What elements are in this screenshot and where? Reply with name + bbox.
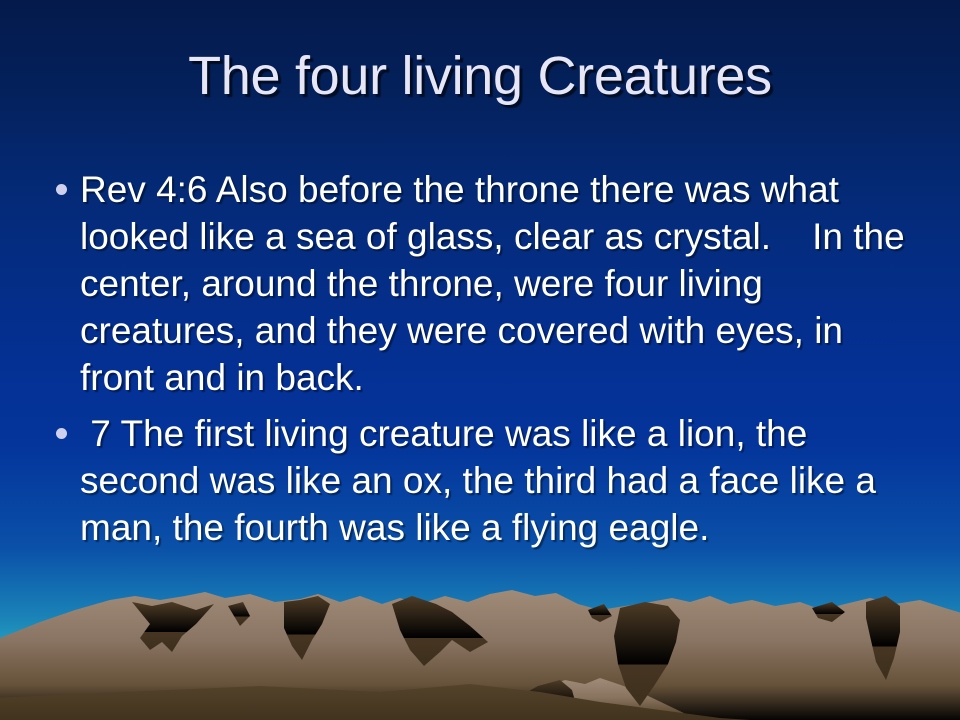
bullet-text: Rev 4:6 Also before the throne there was… — [80, 166, 920, 401]
bullet-text: 7 The first living creature was like a l… — [80, 410, 920, 551]
bullet-dot-icon — [44, 166, 80, 195]
slide-title: The four living Creatures — [0, 46, 960, 106]
mountain-range-illustration — [0, 580, 960, 720]
slide-body: Rev 4:6 Also before the throne there was… — [44, 166, 920, 560]
bullet-list-item: Rev 4:6 Also before the throne there was… — [44, 166, 920, 401]
slide-canvas: The four living Creatures Rev 4:6 Also b… — [0, 0, 960, 720]
bullet-dot-icon — [44, 410, 80, 439]
bullet-list-item: 7 The first living creature was like a l… — [44, 410, 920, 551]
